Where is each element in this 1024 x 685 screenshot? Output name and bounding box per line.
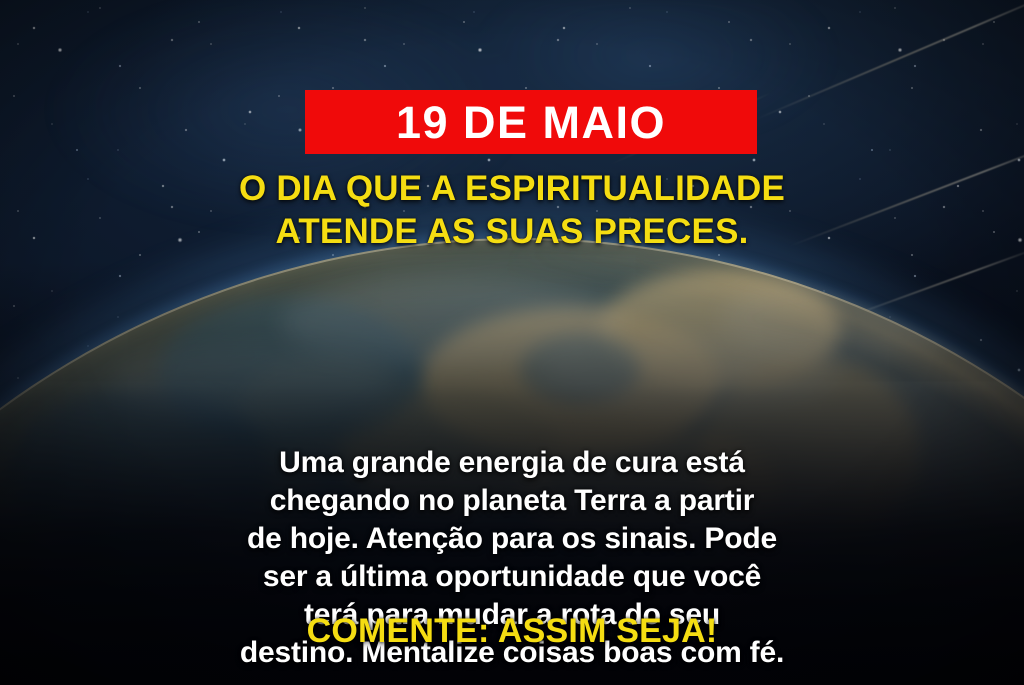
body-line-2: chegando no planeta Terra a partir <box>54 482 970 520</box>
body-line-1: Uma grande energia de cura está <box>54 444 970 482</box>
date-banner-label: 19 DE MAIO <box>396 100 666 145</box>
headline: O DIA QUE A ESPIRITUALIDADE ATENDE AS SU… <box>0 168 1024 253</box>
call-to-action: COMENTE: ASSIM SEJA! <box>0 612 1024 651</box>
date-banner: 19 DE MAIO <box>305 90 757 154</box>
body-line-4: ser a última oportunidade que você <box>54 558 970 596</box>
body-line-3: de hoje. Atenção para os sinais. Pode <box>54 520 970 558</box>
poster-content: 19 DE MAIO O DIA QUE A ESPIRITUALIDADE A… <box>0 0 1024 685</box>
headline-line-2: ATENDE AS SUAS PRECES. <box>52 211 972 254</box>
headline-line-1: O DIA QUE A ESPIRITUALIDADE <box>52 168 972 211</box>
poster-image: 19 DE MAIO O DIA QUE A ESPIRITUALIDADE A… <box>0 0 1024 685</box>
